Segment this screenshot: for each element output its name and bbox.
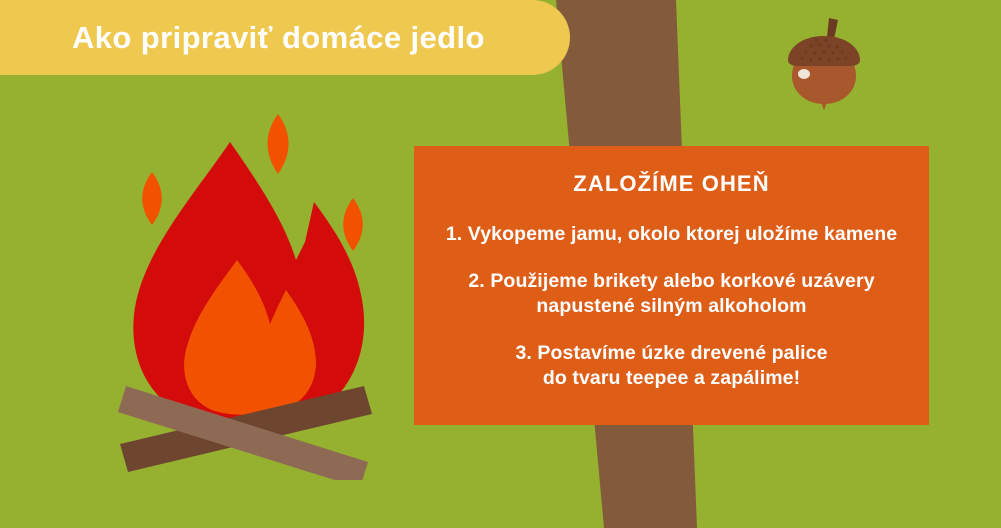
instruction-step-3-line-1: 3. Postavíme úzke drevené palice bbox=[515, 342, 827, 364]
page-title: Ako pripraviť domáce jedlo bbox=[72, 22, 485, 53]
instruction-step-2: 2. Použijeme brikety alebo korkové uzáve… bbox=[432, 269, 911, 319]
instructions-panel: ZALOŽÍME OHEŇ 1. Vykopeme jamu, okolo kt… bbox=[414, 146, 929, 425]
acorn-highlight-icon bbox=[798, 69, 810, 79]
instruction-step-1: 1. Vykopeme jamu, okolo ktorej uložíme k… bbox=[432, 222, 911, 247]
campfire-illustration bbox=[100, 110, 400, 480]
acorn-bottom-tip-icon bbox=[821, 102, 827, 110]
instruction-step-2-line-1: 2. Použijeme brikety alebo korkové uzáve… bbox=[468, 270, 874, 292]
instruction-step-2-line-2: napustené silným alkoholom bbox=[536, 295, 806, 317]
instruction-step-1-line-1: 1. Vykopeme jamu, okolo ktorej uložíme k… bbox=[446, 223, 897, 245]
title-banner: Ako pripraviť domáce jedlo bbox=[0, 0, 570, 75]
instruction-step-3: 3. Postavíme úzke drevené palice do tvar… bbox=[432, 341, 911, 391]
acorn-stem-icon bbox=[827, 18, 838, 39]
instructions-heading: ZALOŽÍME OHEŇ bbox=[432, 172, 911, 196]
instruction-step-3-line-2: do tvaru teepee a zapálime! bbox=[543, 367, 800, 389]
poster-canvas: Ako pripraviť domáce jedlo ZALOŽÍME OHEŇ… bbox=[0, 0, 1001, 528]
acorn-illustration bbox=[780, 14, 868, 110]
